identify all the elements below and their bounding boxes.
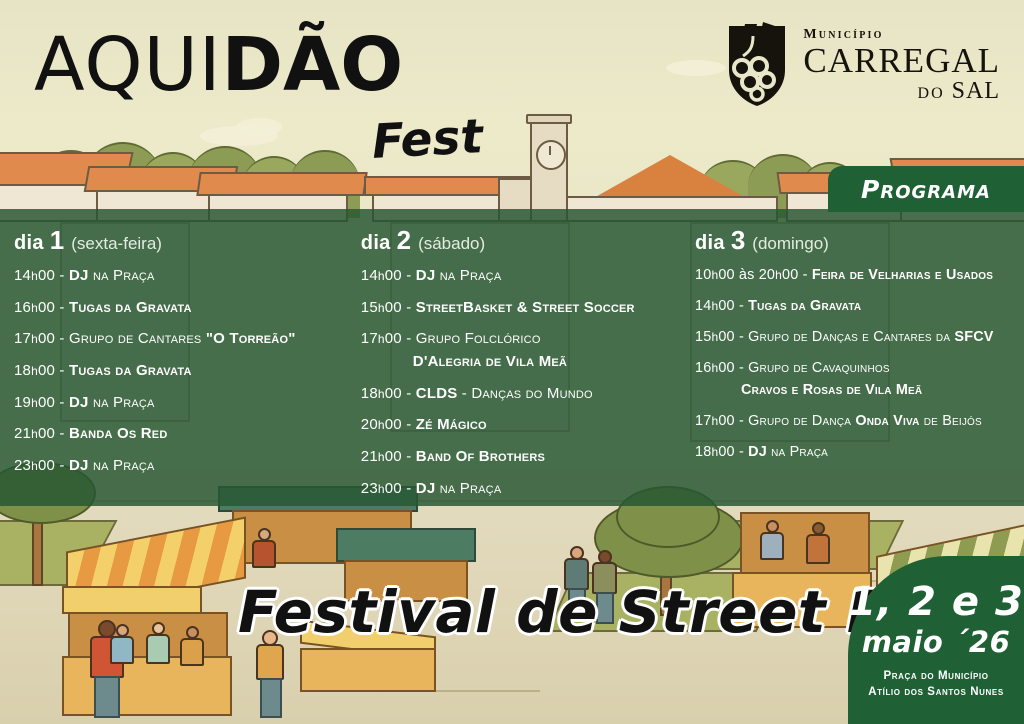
day-header: dia1(sexta-feira) (14, 227, 349, 253)
schedule-entry: 14h00 - DJ na Praça (361, 267, 681, 285)
entry-time: 18h00 (14, 362, 55, 379)
schedule-entry: 21h00 - Banda Os Red (14, 425, 349, 443)
entry-title: Banda Os Red (69, 425, 167, 442)
entry-time: 21h00 (361, 448, 402, 465)
venue-line-1: Praça do Município (854, 669, 1018, 685)
schedule-entry: 18h00 - DJ na Praça (695, 444, 1024, 461)
schedule-entry: 16h00 - Grupo de CavaquinhosCravos e Ros… (695, 360, 1024, 399)
entry-time: 19h00 (14, 394, 55, 411)
entry-time: 18h00 (695, 444, 735, 460)
date-days: 1, 2 e 3 (848, 582, 1024, 622)
entry-text: Grupo de Dança (744, 413, 855, 429)
day-word: dia (361, 232, 391, 254)
day-weekday: (sexta-feira) (71, 234, 162, 253)
entry-title: "O Torreão" (206, 330, 296, 347)
day-header: dia2(sábado) (361, 227, 681, 253)
logo-part-aqui: AQUI (34, 22, 222, 108)
day-1-entry-list: 14h00 - DJ na Praça16h00 - Tugas da Grav… (14, 267, 349, 475)
clock-icon (536, 140, 566, 170)
municipality-region-do: DO (918, 85, 945, 102)
municipality-shield-icon (723, 22, 791, 108)
entry-title: DJ (416, 480, 436, 497)
entry-time: 20h00 (361, 416, 402, 433)
entry-text: Grupo de Cantares (65, 330, 206, 347)
entry-time: 17h00 (361, 330, 402, 347)
schedule-entry: 17h00 - Grupo de Dança Onda Viva de Beij… (695, 413, 1024, 430)
schedule-entry: 17h00 - Grupo FolclóricoD'Alegria de Vil… (361, 330, 681, 370)
day-3-entry-list: 10h00 às 20h00 - Feira de Velharias e Us… (695, 267, 1024, 461)
entry-time: 14h00 (14, 267, 55, 284)
entry-title-line2: Cravos e Rosas de Vila Meã (741, 382, 1024, 399)
entry-title: SFCV (954, 329, 993, 345)
day-number: 3 (731, 225, 745, 255)
schedule-entry: 23h00 - DJ na Praça (14, 457, 349, 475)
schedule-entry: 16h00 - Tugas da Gravata (14, 299, 349, 317)
entry-text: - Danças do Mundo (457, 385, 592, 402)
schedule-entry: 21h00 - Band Of Brothers (361, 448, 681, 466)
stall-counter (62, 656, 232, 716)
entry-title: Zé Mágico (416, 416, 487, 433)
entry-time: 15h00 (361, 299, 402, 316)
person-torso (252, 540, 276, 568)
schedule-entry: 23h00 - DJ na Praça (361, 480, 681, 498)
venue-line-2: Atílio dos Santos Nunes (854, 685, 1018, 701)
day-number: 1 (50, 225, 64, 255)
entry-time: 14h00 (695, 298, 735, 314)
municipality-kicker: Município (803, 28, 1000, 42)
clock-tower (530, 120, 568, 222)
schedule-entry: 19h00 - DJ na Praça (14, 394, 349, 412)
entry-time: 17h00 (695, 413, 735, 429)
tower-cap (526, 114, 572, 124)
entry-time: 21h00 (14, 425, 55, 442)
cloud-icon (666, 60, 726, 76)
festival-logo-subtitle: Fest (371, 109, 485, 170)
entry-title: DJ (69, 267, 89, 284)
person-torso (110, 636, 134, 664)
programme-columns: dia1(sexta-feira) 14h00 - DJ na Praça16h… (0, 209, 1024, 506)
entry-title: DJ (69, 394, 89, 411)
entry-title: Band Of Brothers (416, 448, 545, 465)
day-header: dia3(domingo) (695, 227, 1024, 253)
event-poster: AQUIDÃO Fest Município CARREGAL DO SAL P… (0, 0, 1024, 724)
person-torso (256, 644, 284, 680)
schedule-entry: 17h00 - Grupo de Cantares "O Torreão" (14, 330, 349, 348)
schedule-entry: 20h00 - Zé Mágico (361, 416, 681, 434)
entry-title-line2: D'Alegria de Vila Meã (413, 353, 681, 371)
entry-time: 10h00 às 20h00 (695, 267, 798, 283)
entry-title: DJ (416, 267, 436, 284)
entry-text: na Praça (89, 457, 155, 474)
entry-text: na Praça (435, 267, 501, 284)
entry-title: Tugas da Gravata (748, 298, 861, 314)
day-word: dia (14, 232, 44, 254)
entry-text: Grupo de Danças e Cantares da (744, 329, 954, 345)
entry-title: Feira de Velharias e Usados (812, 267, 993, 283)
person-torso (806, 534, 830, 564)
day-column-2: dia2(sábado) 14h00 - DJ na Praça15h00 - … (349, 209, 681, 506)
schedule-entry: 15h00 - StreetBasket & Street Soccer (361, 299, 681, 317)
entry-text: Grupo de Cavaquinhos (744, 360, 890, 376)
day-word: dia (695, 232, 725, 254)
municipality-text: Município CARREGAL DO SAL (803, 28, 1000, 103)
cloud-icon (236, 118, 282, 136)
schedule-entry: 18h00 - Tugas da Gravata (14, 362, 349, 380)
entry-text: na Praça (435, 480, 501, 497)
entry-title: CLDS (416, 385, 458, 402)
stall-roof (336, 528, 476, 562)
entry-text: na Praça (89, 267, 155, 284)
schedule-entry: 18h00 - CLDS - Danças do Mundo (361, 385, 681, 403)
municipality-logo: Município CARREGAL DO SAL (723, 22, 1000, 108)
entry-title: Tugas da Gravata (69, 299, 192, 316)
entry-time: 16h00 (695, 360, 735, 376)
person-legs (94, 676, 120, 718)
entry-title: DJ (748, 444, 767, 460)
entry-time: 15h00 (695, 329, 735, 345)
entry-time: 16h00 (14, 299, 55, 316)
day-weekday: (domingo) (752, 234, 829, 253)
day-column-1: dia1(sexta-feira) 14h00 - DJ na Praça16h… (0, 209, 349, 506)
schedule-entry: 15h00 - Grupo de Danças e Cantares da SF… (695, 329, 1024, 346)
entry-title: Tugas da Gravata (69, 362, 192, 379)
programa-label: Programa (861, 175, 991, 204)
roof (196, 172, 367, 196)
logo-part-dao: DÃO (222, 22, 404, 108)
person-torso (760, 532, 784, 560)
day-weekday: (sábado) (418, 234, 485, 253)
entry-time: 14h00 (361, 267, 402, 284)
entry-time: 23h00 (14, 457, 55, 474)
municipality-region: DO SAL (803, 79, 1000, 103)
stall-valance (62, 586, 202, 614)
date-badge: 1, 2 e 3 maio ´26 Praça do Município Atí… (848, 556, 1024, 724)
schedule-entry: 14h00 - DJ na Praça (14, 267, 349, 285)
entry-text: de Beijós (920, 413, 982, 429)
day-2-entry-list: 14h00 - DJ na Praça15h00 - StreetBasket … (361, 267, 681, 498)
stall-counter (300, 648, 436, 692)
person-torso (180, 638, 204, 666)
schedule-entry: 10h00 às 20h00 - Feira de Velharias e Us… (695, 267, 1024, 284)
entry-time: 23h00 (361, 480, 402, 497)
entry-title: StreetBasket & Street Soccer (416, 299, 635, 316)
municipality-region-sal: SAL (952, 78, 1000, 104)
festival-logo-text: AQUIDÃO (34, 28, 403, 102)
entry-time: 18h00 (361, 385, 402, 402)
programa-ribbon: Programa (828, 166, 1024, 212)
entry-title: DJ (69, 457, 89, 474)
entry-time: 17h00 (14, 330, 55, 347)
entry-text: Grupo Folclórico (411, 330, 540, 347)
venue-text: Praça do Município Atílio dos Santos Nun… (848, 669, 1024, 700)
day-number: 2 (397, 225, 411, 255)
municipality-name: CARREGAL (803, 43, 1000, 78)
schedule-entry: 14h00 - Tugas da Gravata (695, 298, 1024, 315)
entry-title: Onda Viva (855, 413, 919, 429)
festival-logo: AQUIDÃO (34, 28, 403, 102)
day-column-3: dia3(domingo) 10h00 às 20h00 - Feira de … (681, 209, 1024, 506)
person-torso (146, 634, 170, 664)
date-month: maio ´26 (848, 628, 1024, 657)
entry-text: na Praça (89, 394, 155, 411)
person-legs (260, 678, 282, 718)
entry-text: na Praça (767, 444, 828, 460)
